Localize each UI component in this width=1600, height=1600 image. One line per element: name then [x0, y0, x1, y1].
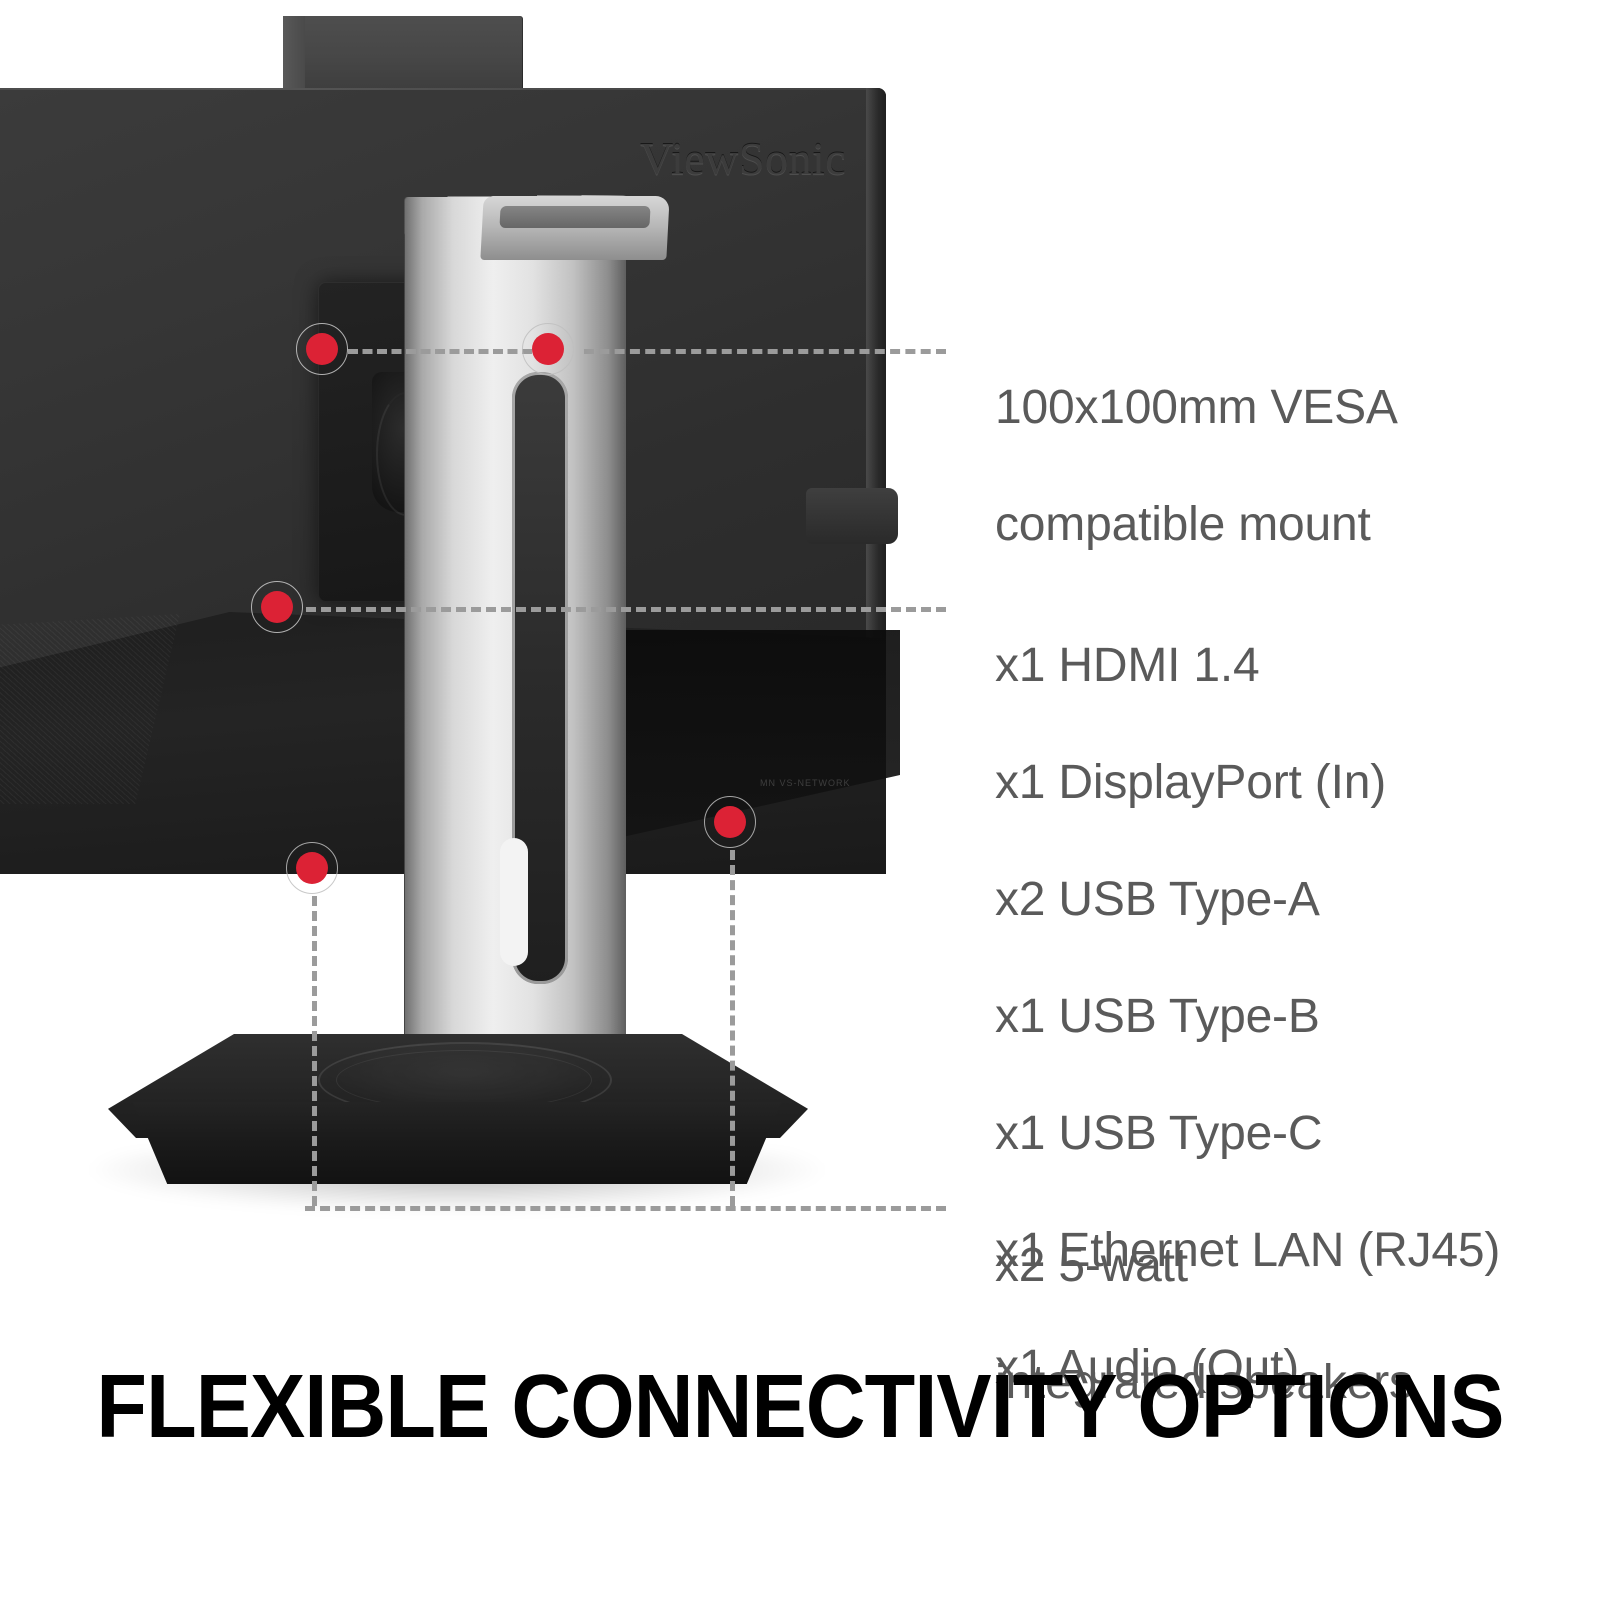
leader-line-vesa-outer — [584, 349, 946, 354]
marker-speaker-right[interactable] — [704, 796, 756, 848]
page-headline: FLEXIBLE CONNECTIVITY OPTIONS — [64, 1356, 1536, 1459]
base-swivel-ring-inner — [336, 1050, 592, 1110]
marker-speaker-left[interactable] — [286, 842, 338, 894]
marker-vesa-mount-hole-left[interactable] — [296, 323, 348, 375]
webcam-seam — [283, 16, 305, 90]
leader-line-speakers — [305, 1206, 946, 1211]
viewsonic-wordmark: ViewSonic — [640, 132, 846, 185]
infographic-canvas: ViewSonic MN VS‑NETWORK 100x100mm VESA c… — [0, 0, 1600, 1600]
leader-line-ports — [306, 607, 946, 612]
callout-ports-line-4: x1 USB Type-B — [995, 988, 1500, 1047]
callout-ports-line-3: x2 USB Type-A — [995, 871, 1500, 930]
stand-bracket-inlay — [499, 206, 650, 228]
callout-ports-line-1: x1 HDMI 1.4 — [995, 637, 1500, 696]
leader-line-speaker-left-drop — [312, 896, 317, 1206]
callout-vesa-line-1: 100x100mm VESA — [995, 379, 1398, 438]
callout-vesa-line-2: compatible mount — [995, 496, 1398, 555]
popup-webcam-module — [283, 16, 523, 90]
leader-line-speaker-right-drop — [730, 850, 735, 1206]
regulatory-fineprint: MN VS‑NETWORK — [760, 778, 851, 788]
stand-cable-slot — [500, 838, 528, 966]
marker-rear-port-cluster[interactable] — [251, 581, 303, 633]
callout-ports-line-2: x1 DisplayPort (In) — [995, 754, 1500, 813]
product-photo-monitor-rear: ViewSonic MN VS‑NETWORK — [0, 0, 960, 1290]
leader-line-vesa-inner — [348, 349, 532, 354]
marker-vesa-mount-hole-right[interactable] — [522, 323, 574, 375]
stand-base-front — [112, 1102, 802, 1184]
callout-ports-line-5: x1 USB Type-C — [995, 1105, 1500, 1164]
cable-management-clip — [806, 488, 898, 544]
callout-vesa: 100x100mm VESA compatible mount — [995, 320, 1398, 613]
callout-speakers-line-1: x2 5-watt — [995, 1237, 1413, 1296]
